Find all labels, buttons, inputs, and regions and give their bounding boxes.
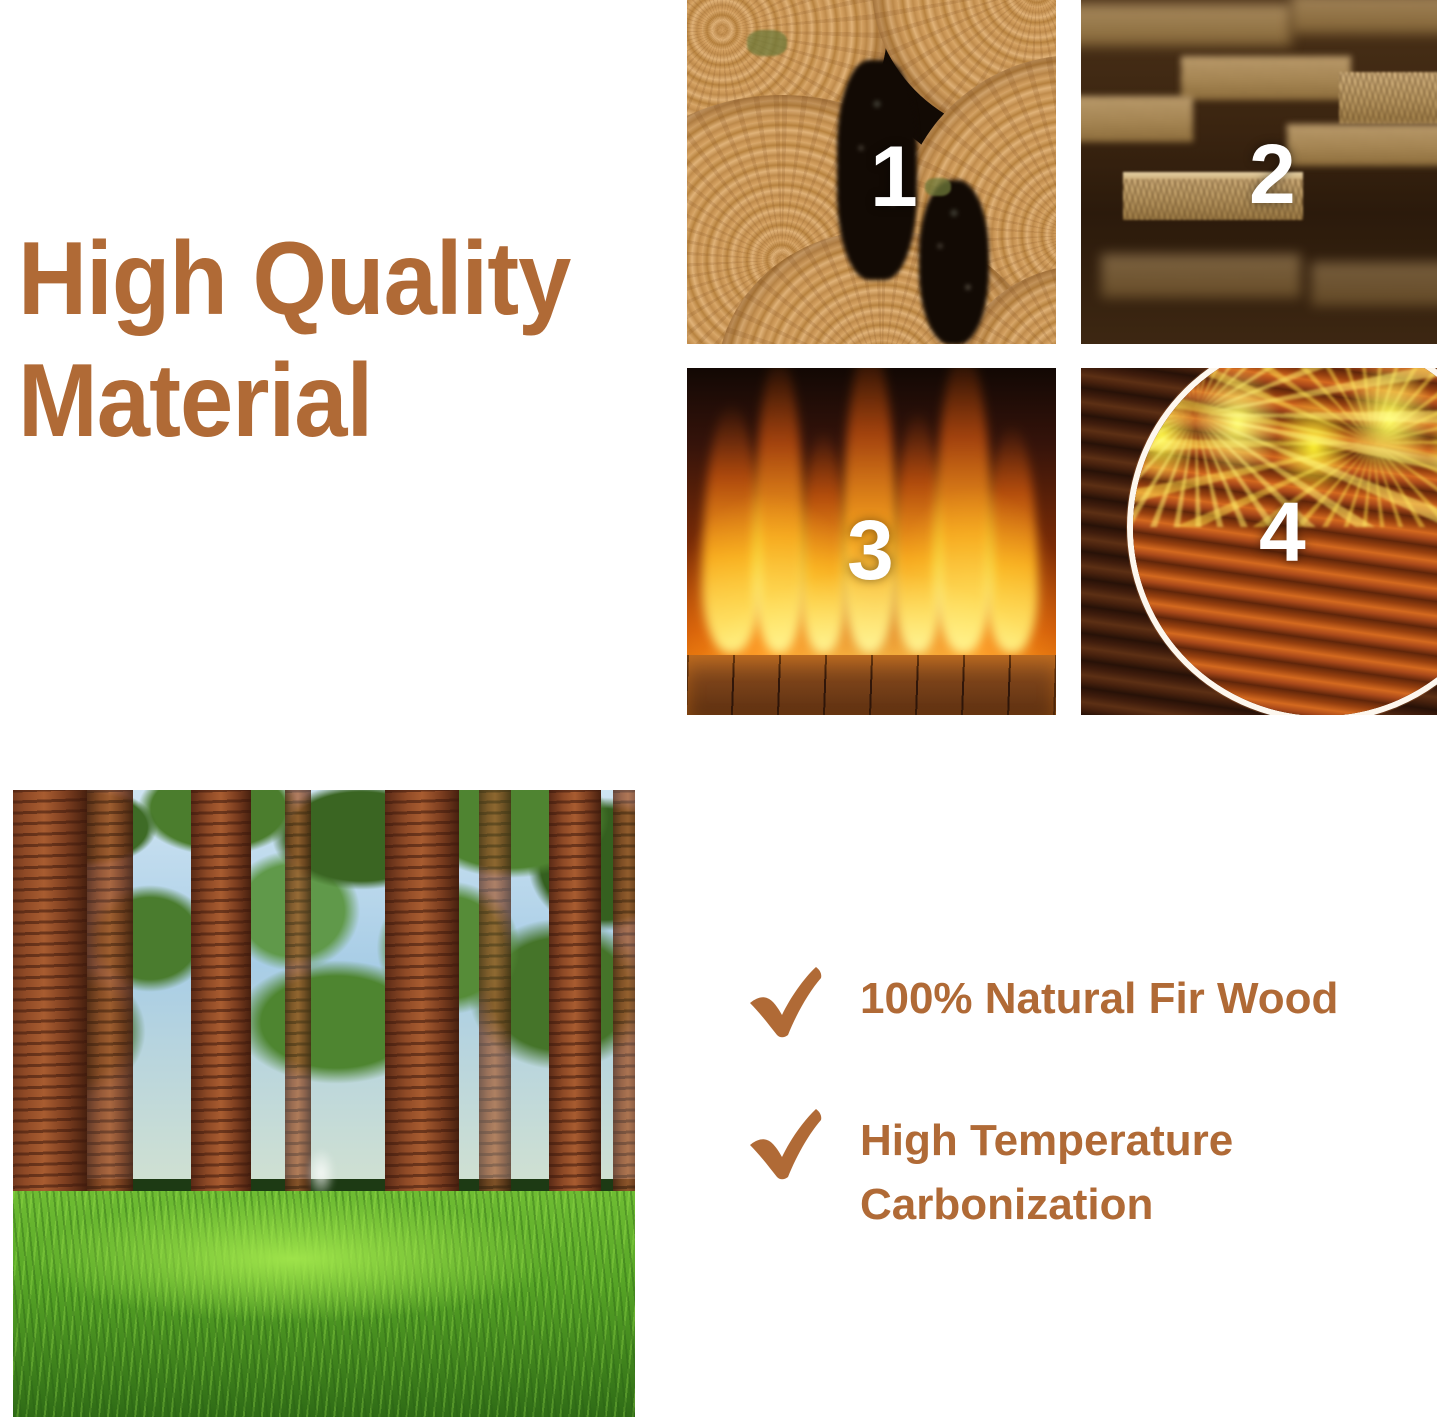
grass-meadow [13,1191,635,1417]
tree-trunk [479,790,511,1241]
page-title: High Quality Material [18,218,607,462]
feature-label: High Temperature Carbonization [860,1107,1233,1237]
process-tile-4: 4 [1081,368,1437,715]
tile-number-3: 3 [847,508,894,592]
tile-number-2: 2 [1249,132,1296,216]
feature-label: 100% Natural Fir Wood [860,965,1338,1031]
process-tile-3: 3 [687,368,1056,715]
check-icon [748,1107,834,1183]
feature-item: High Temperature Carbonization [748,1107,1408,1237]
feature-list: 100% Natural Fir Wood High Temperature C… [748,965,1408,1303]
tree-trunk [613,790,635,1229]
plank-floor [687,655,1056,715]
fir-forest-photo [13,790,635,1417]
process-tile-2: 2 [1081,0,1437,344]
process-tile-1: 1 [687,0,1056,344]
tile-number-4: 4 [1259,490,1306,574]
feature-item: 100% Natural Fir Wood [748,965,1408,1041]
tile-number-1: 1 [870,134,918,220]
check-icon [748,965,834,1041]
